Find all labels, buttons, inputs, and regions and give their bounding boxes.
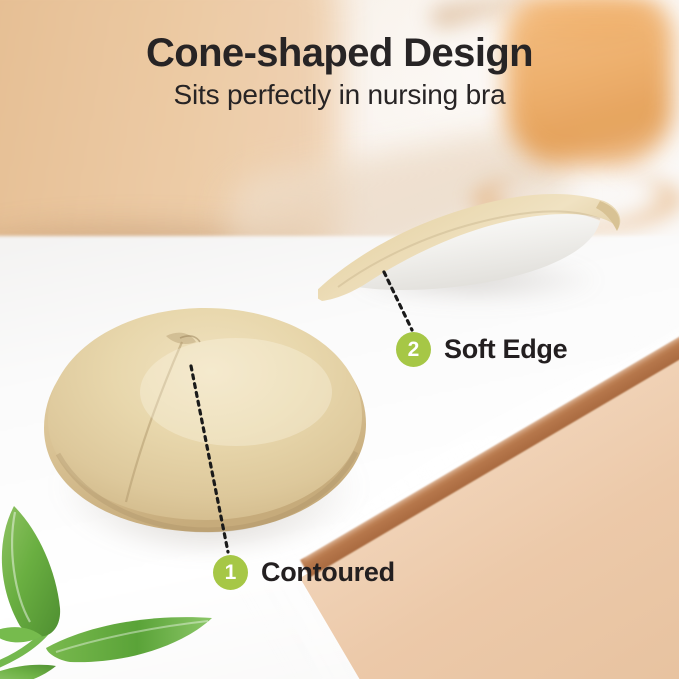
leader-line-1 (191, 366, 228, 552)
page-subtitle: Sits perfectly in nursing bra (0, 79, 679, 111)
leader-line-2 (384, 272, 412, 330)
callout-badge-1: 1 (213, 555, 248, 590)
callout-badge-2: 2 (396, 332, 431, 367)
callout-soft-edge: 2 Soft Edge (396, 332, 567, 367)
callout-contoured: 1 Contoured (213, 555, 395, 590)
callout-label-1: Contoured (261, 557, 395, 588)
infographic-canvas: Cone-shaped Design Sits perfectly in nur… (0, 0, 679, 679)
callout-label-2: Soft Edge (444, 334, 567, 365)
page-title: Cone-shaped Design (0, 31, 679, 76)
